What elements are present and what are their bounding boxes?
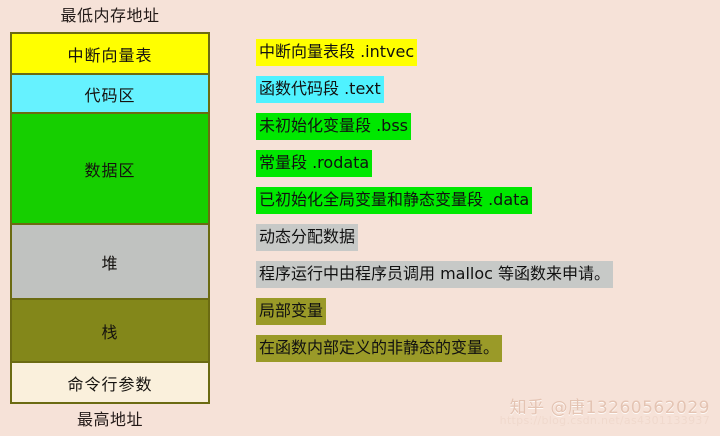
annotation-label: 未初始化变量段 .bss bbox=[256, 113, 411, 139]
annotation-label: 中断向量表段 .intvec bbox=[256, 39, 417, 65]
annotation-row: 函数代码段 .text bbox=[256, 71, 708, 108]
memory-block-label: 命令行参数 bbox=[67, 371, 152, 395]
annotation-label: 在函数内部定义的非静态的变量。 bbox=[256, 335, 502, 361]
memory-map: 中断向量表代码区数据区堆栈命令行参数 bbox=[10, 32, 210, 404]
memory-block-label: 代码区 bbox=[84, 82, 135, 106]
memory-block-label: 数据区 bbox=[84, 157, 135, 181]
annotation-row: 动态分配数据 bbox=[256, 219, 708, 256]
annotation-row: 在函数内部定义的非静态的变量。 bbox=[256, 330, 708, 367]
annotation-label: 常量段 .rodata bbox=[256, 150, 372, 176]
watermark-author: 知乎 @唐13260562029 bbox=[500, 393, 710, 418]
annotation-row: 未初始化变量段 .bss bbox=[256, 108, 708, 145]
lowest-memory-address-label: 最低内存地址 bbox=[10, 2, 210, 26]
annotation-label: 已初始化全局变量和静态变量段 .data bbox=[256, 187, 532, 213]
annotation-list: 中断向量表段 .intvec函数代码段 .text未初始化变量段 .bss常量段… bbox=[256, 34, 708, 367]
memory-block-label: 堆 bbox=[101, 250, 118, 274]
annotation-row: 局部变量 bbox=[256, 293, 708, 330]
annotation-label: 局部变量 bbox=[256, 298, 326, 324]
annotation-row: 已初始化全局变量和静态变量段 .data bbox=[256, 182, 708, 219]
annotation-label: 程序运行中由程序员调用 malloc 等函数来申请。 bbox=[256, 261, 613, 287]
memory-block: 中断向量表 bbox=[12, 34, 208, 75]
annotation-row: 常量段 .rodata bbox=[256, 145, 708, 182]
annotation-row: 程序运行中由程序员调用 malloc 等函数来申请。 bbox=[256, 256, 708, 293]
memory-block-label: 栈 bbox=[101, 319, 118, 343]
memory-block: 命令行参数 bbox=[12, 363, 208, 402]
memory-block: 堆 bbox=[12, 225, 208, 300]
highest-memory-address-label: 最高地址 bbox=[10, 406, 210, 430]
memory-block: 代码区 bbox=[12, 75, 208, 114]
memory-block: 栈 bbox=[12, 300, 208, 363]
watermark: 知乎 @唐13260562029 https://blog.csdn.net/a… bbox=[500, 393, 710, 427]
memory-block-label: 中断向量表 bbox=[67, 42, 152, 66]
annotation-label: 函数代码段 .text bbox=[256, 76, 384, 102]
watermark-url: https://blog.csdn.net/as4301133937 bbox=[500, 414, 710, 427]
memory-layout-diagram: 最低内存地址 中断向量表代码区数据区堆栈命令行参数 最高地址 中断向量表段 .i… bbox=[0, 0, 720, 436]
annotation-label: 动态分配数据 bbox=[256, 224, 358, 250]
annotation-row: 中断向量表段 .intvec bbox=[256, 34, 708, 71]
memory-block: 数据区 bbox=[12, 114, 208, 225]
